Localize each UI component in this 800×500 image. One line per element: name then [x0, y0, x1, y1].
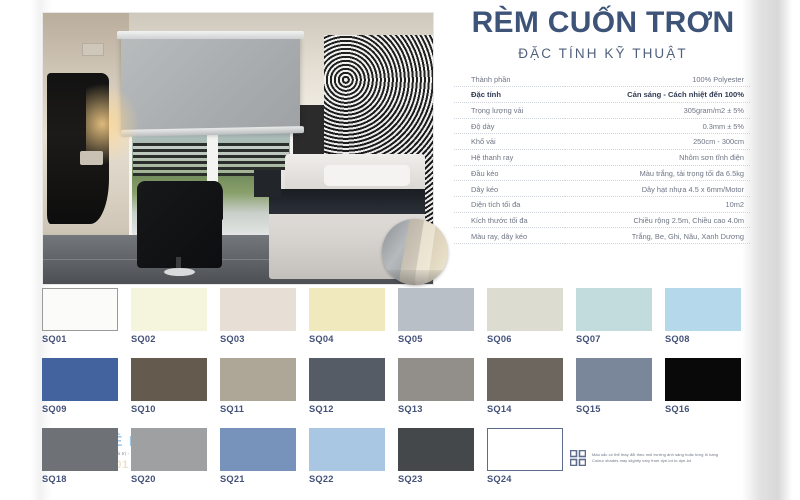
photo-armchair	[137, 181, 223, 268]
swatch-colour-chip[interactable]	[131, 288, 207, 331]
swatch-colour-chip[interactable]	[131, 358, 207, 401]
swatch-code-label: SQ22	[309, 474, 385, 484]
spec-value: Chiều rộng 2.5m, Chiều cao 4.0m	[565, 212, 750, 228]
photo-nightstand	[254, 170, 281, 197]
photo-armchair-base	[164, 268, 195, 276]
swatch-code-label: SQ18	[42, 474, 118, 484]
swatch-code-label: SQ06	[487, 334, 563, 344]
swatch-colour-chip[interactable]	[42, 358, 118, 401]
swatch-code-label: SQ02	[131, 334, 207, 344]
spec-key: Diện tích tối đa	[454, 197, 565, 213]
spec-value: 100% Polyester	[565, 72, 750, 87]
spec-row: Kích thước tối đaChiều rộng 2.5m, Chiều …	[454, 212, 750, 228]
colour-swatch-grid: SQ01SQ02SQ03SQ04SQ05SQ06SQ07SQ08 SQ09SQ1…	[42, 288, 757, 498]
spec-key: Đầu kéo	[454, 165, 565, 181]
swatch-sq16[interactable]: SQ16	[665, 358, 741, 401]
spec-table-body: Thành phần100% PolyesterĐặc tínhCản sáng…	[454, 72, 750, 244]
fabric-sample-roll	[382, 219, 448, 285]
swatch-sq08[interactable]: SQ08	[665, 288, 741, 331]
spec-row: Đặc tínhCản sáng - Cách nhiệt đến 100%	[454, 87, 750, 103]
disclaimer-line-en: Colour shades may slightly vary from dye…	[592, 458, 718, 464]
spec-row: Khổ vải250cm - 300cm	[454, 134, 750, 150]
spec-key: Hệ thanh ray	[454, 150, 565, 166]
swatch-sq01[interactable]: SQ01	[42, 288, 118, 331]
swatch-code-label: SQ14	[487, 404, 563, 414]
swatch-code-label: SQ24	[487, 474, 563, 484]
spec-value: Dây hạt nhựa 4.5 x 6mm/Motor	[565, 181, 750, 197]
swatch-colour-chip[interactable]	[665, 358, 741, 401]
spec-key: Đặc tính	[454, 87, 565, 103]
swatch-colour-chip[interactable]	[42, 288, 118, 331]
spec-row: Diện tích tối đa10m2	[454, 197, 750, 213]
photo-roller-blind	[121, 35, 300, 133]
catalog-page: RÈM CUỐN TRƠN ĐẶC TÍNH KỸ THUẬT Thành ph…	[0, 0, 800, 500]
swatch-sq15[interactable]: SQ15	[576, 358, 652, 401]
swatch-code-label: SQ07	[576, 334, 652, 344]
photo-wall-switch-lower	[80, 151, 103, 165]
swatch-code-label: SQ23	[398, 474, 474, 484]
roll-shadow	[382, 270, 448, 285]
swatch-colour-chip[interactable]	[131, 428, 207, 471]
swatch-code-label: SQ12	[309, 404, 385, 414]
spec-row: Độ dày0.3mm ± 5%	[454, 118, 750, 134]
swatch-colour-chip[interactable]	[309, 288, 385, 331]
swatch-sq20[interactable]: SQ20	[131, 428, 207, 471]
swatch-sq02[interactable]: SQ02	[131, 288, 207, 331]
spec-row: Màu ray, dây kéoTrắng, Be, Ghi, Nâu, Xan…	[454, 228, 750, 244]
swatch-sq13[interactable]: SQ13	[398, 358, 474, 401]
photo-wall-switch-upper	[82, 43, 104, 56]
spec-row: Thành phần100% Polyester	[454, 72, 750, 87]
swatch-code-label: SQ08	[665, 334, 741, 344]
swatch-colour-chip[interactable]	[220, 358, 296, 401]
photo-bed-throw	[269, 189, 425, 213]
swatch-sq04[interactable]: SQ04	[309, 288, 385, 331]
swatch-code-label: SQ20	[131, 474, 207, 484]
spec-panel: RÈM CUỐN TRƠN ĐẶC TÍNH KỸ THUẬT Thành ph…	[444, 8, 762, 244]
swatch-code-label: SQ15	[576, 404, 652, 414]
swatch-colour-chip[interactable]	[309, 428, 385, 471]
swatch-code-label: SQ21	[220, 474, 296, 484]
grid-squares-icon	[570, 450, 586, 466]
swatch-sq18[interactable]: SQ18	[42, 428, 118, 471]
swatch-colour-chip[interactable]	[487, 428, 563, 471]
spec-row: Hệ thanh rayNhôm sơn tĩnh điện	[454, 150, 750, 166]
swatch-code-label: SQ03	[220, 334, 296, 344]
swatch-sq21[interactable]: SQ21	[220, 428, 296, 471]
page-title: RÈM CUỐN TRƠN	[444, 8, 762, 39]
swatch-sq07[interactable]: SQ07	[576, 288, 652, 331]
swatch-sq10[interactable]: SQ10	[131, 358, 207, 401]
spec-value: 250cm - 300cm	[565, 134, 750, 150]
swatch-code-label: SQ09	[42, 404, 118, 414]
bedroom-roller-blind-photo	[42, 12, 434, 285]
swatch-sq03[interactable]: SQ03	[220, 288, 296, 331]
swatch-sq24[interactable]: SQ24	[487, 428, 563, 471]
swatch-code-label: SQ05	[398, 334, 474, 344]
spec-value: Cản sáng - Cách nhiệt đến 100%	[565, 87, 750, 103]
swatch-sq22[interactable]: SQ22	[309, 428, 385, 471]
spec-key: Khổ vải	[454, 134, 565, 150]
spec-value: 305gram/m2 ± 5%	[565, 102, 750, 118]
swatch-sq14[interactable]: SQ14	[487, 358, 563, 401]
swatch-colour-chip[interactable]	[220, 428, 296, 471]
spec-value: 10m2	[565, 197, 750, 213]
swatch-sq12[interactable]: SQ12	[309, 358, 385, 401]
spec-value: Trắng, Be, Ghi, Nâu, Xanh Dương	[565, 228, 750, 244]
swatch-sq11[interactable]: SQ11	[220, 358, 296, 401]
swatch-sq09[interactable]: SQ09	[42, 358, 118, 401]
swatch-code-label: SQ16	[665, 404, 741, 414]
swatch-code-label: SQ01	[42, 334, 118, 344]
spec-table: Thành phần100% PolyesterĐặc tínhCản sáng…	[454, 72, 750, 245]
photo-pillow	[324, 165, 410, 187]
swatch-colour-chip[interactable]	[576, 288, 652, 331]
swatch-colour-chip[interactable]	[398, 358, 474, 401]
swatch-colour-chip[interactable]	[487, 358, 563, 401]
swatch-row-2: SQ09SQ10SQ11SQ12SQ13SQ14SQ15SQ16	[42, 358, 757, 428]
swatch-colour-chip[interactable]	[42, 428, 118, 471]
page-subtitle: ĐẶC TÍNH KỸ THUẬT	[444, 46, 762, 61]
spec-key: Trọng lượng vải	[454, 102, 565, 118]
spec-key: Thành phần	[454, 72, 565, 87]
spec-key: Kích thước tối đa	[454, 212, 565, 228]
colour-disclaimer: Màu sắc có thể thay đổi theo môi trường …	[570, 450, 770, 466]
spec-row: Dây kéoDây hạt nhựa 4.5 x 6mm/Motor	[454, 181, 750, 197]
swatch-code-label: SQ11	[220, 404, 296, 414]
swatch-colour-chip[interactable]	[398, 288, 474, 331]
swatch-colour-chip[interactable]	[220, 288, 296, 331]
photo-blind-headrail	[117, 31, 304, 39]
disclaimer-text: Màu sắc có thể thay đổi theo môi trường …	[592, 452, 718, 464]
swatch-code-label: SQ13	[398, 404, 474, 414]
spec-value: Màu trắng, tải trọng tối đa 6.5kg	[565, 165, 750, 181]
swatch-colour-chip[interactable]	[665, 288, 741, 331]
spec-key: Màu ray, dây kéo	[454, 228, 565, 244]
spec-row: Đầu kéoMàu trắng, tải trọng tối đa 6.5kg	[454, 165, 750, 181]
spec-key: Độ dày	[454, 118, 565, 134]
swatch-colour-chip[interactable]	[398, 428, 474, 471]
swatch-code-label: SQ10	[131, 404, 207, 414]
swatch-colour-chip[interactable]	[309, 358, 385, 401]
spec-value: 0.3mm ± 5%	[565, 118, 750, 134]
swatch-colour-chip[interactable]	[487, 288, 563, 331]
swatch-sq05[interactable]: SQ05	[398, 288, 474, 331]
swatch-sq23[interactable]: SQ23	[398, 428, 474, 471]
swatch-sq06[interactable]: SQ06	[487, 288, 563, 331]
swatch-colour-chip[interactable]	[576, 358, 652, 401]
spec-row: Trọng lượng vải305gram/m2 ± 5%	[454, 102, 750, 118]
swatch-code-label: SQ04	[309, 334, 385, 344]
spec-value: Nhôm sơn tĩnh điện	[565, 150, 750, 166]
spec-key: Dây kéo	[454, 181, 565, 197]
swatch-row-1: SQ01SQ02SQ03SQ04SQ05SQ06SQ07SQ08	[42, 288, 757, 358]
